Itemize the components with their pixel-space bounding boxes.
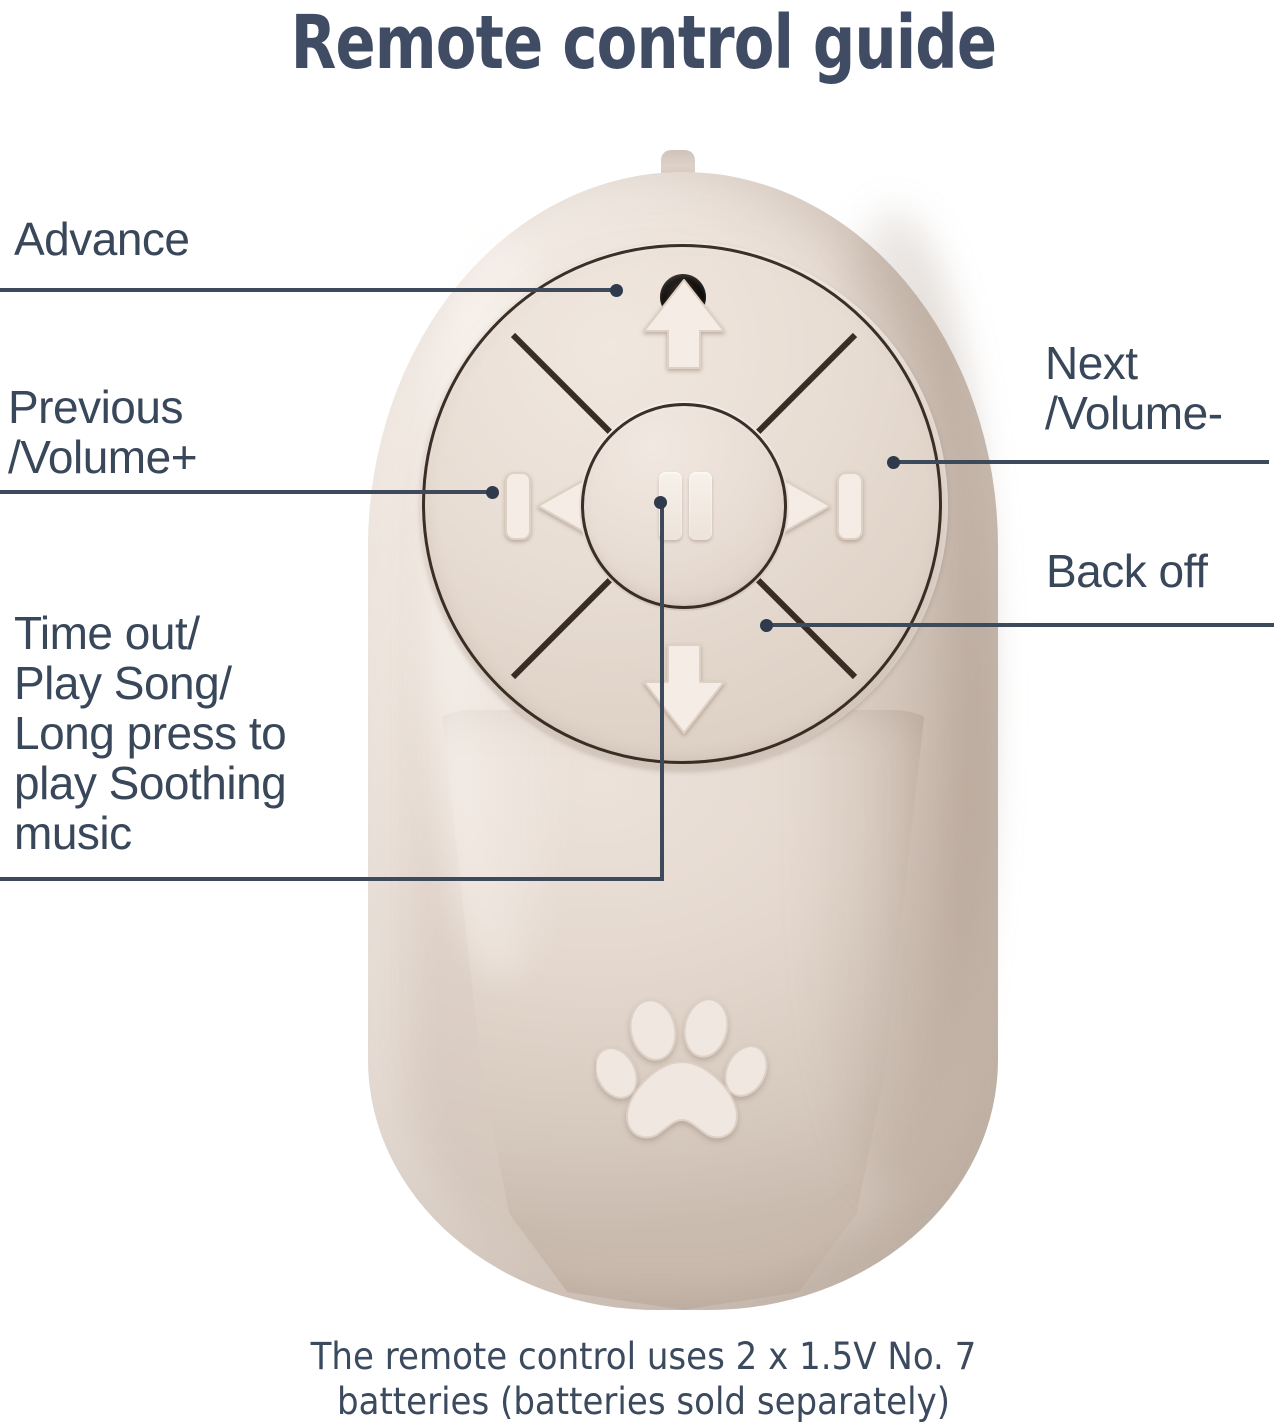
- dpad-down-button[interactable]: [638, 638, 730, 738]
- callout-label-backoff: Back off: [1046, 546, 1207, 596]
- leader-line-timeout-vertical: [660, 500, 664, 881]
- dpad-control-disc[interactable]: [420, 242, 948, 770]
- battery-caption: The remote control uses 2 x 1.5V No. 7 b…: [51, 1334, 1235, 1424]
- leader-dot-next: [887, 456, 900, 469]
- leader-line-advance: [0, 288, 622, 292]
- callout-label-previous: Previous /Volume+: [8, 382, 197, 482]
- page-title: Remote control guide: [129, 2, 1159, 84]
- center-button-ring: [581, 403, 787, 609]
- leader-line-timeout-horizontal: [0, 877, 664, 881]
- guide-canvas: Remote control guide: [0, 0, 1287, 1421]
- leader-dot-previous: [486, 486, 499, 499]
- remote-control-device: [368, 150, 998, 1310]
- leader-line-next: [893, 460, 1269, 464]
- leader-dot-advance: [610, 284, 623, 297]
- paw-print-logo: [596, 990, 770, 1150]
- leader-dot-backoff: [760, 619, 773, 632]
- callout-label-timeout: Time out/ Play Song/ Long press to play …: [14, 608, 286, 858]
- arrow-down-icon: [638, 638, 730, 738]
- dpad-up-button[interactable]: [638, 275, 730, 375]
- leader-line-previous: [0, 490, 496, 494]
- callout-label-advance: Advance: [14, 214, 190, 264]
- arrow-up-icon: [638, 275, 730, 375]
- center-pause-button[interactable]: [579, 401, 789, 611]
- leader-dot-timeout: [654, 496, 667, 509]
- callout-label-next: Next /Volume-: [1045, 338, 1223, 438]
- pause-icon-bar-2: [689, 472, 712, 540]
- leader-line-backoff: [766, 623, 1274, 627]
